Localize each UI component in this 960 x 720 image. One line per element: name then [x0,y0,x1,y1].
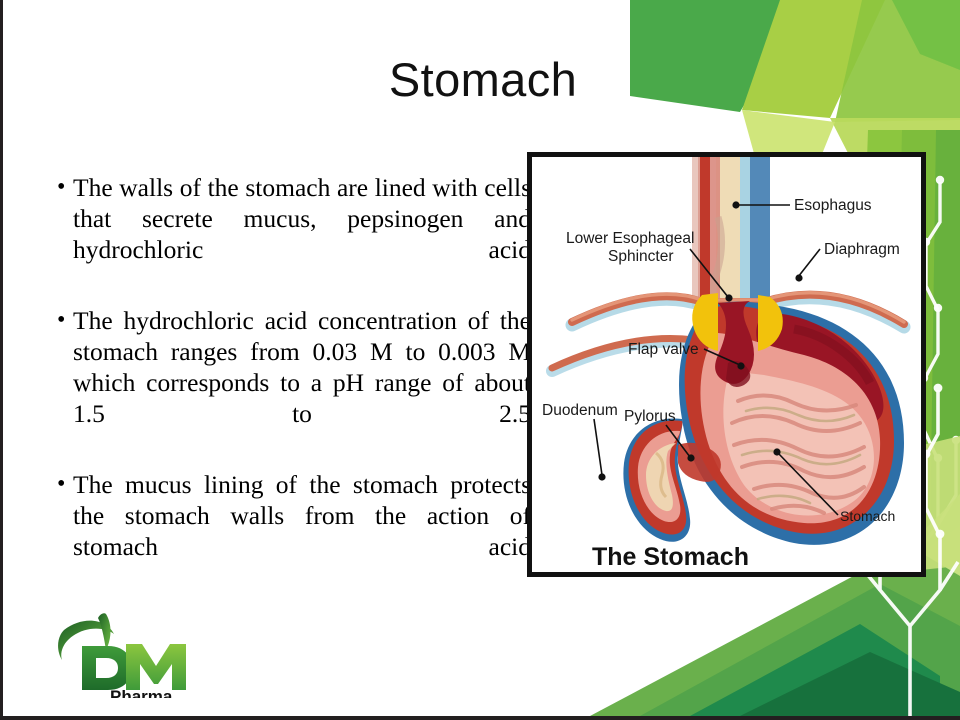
list-item: • The hydrochloric acid concentration of… [47,305,531,460]
bullet-marker: • [47,172,73,202]
label-stomach: Stomach [840,508,895,524]
bullet-list: • The walls of the stomach are lined wit… [47,172,531,602]
logo-dm-pharma: Pharma [48,610,218,698]
bullet-text: The hydrochloric acid concentration of t… [73,305,531,460]
esophagus-shape [692,157,770,307]
stomach-diagram-icon: Esophagus Diaphragm Lower Esophageal Sph… [532,157,921,572]
label-diaphragm: Diaphragm [824,241,900,258]
label-esophagus: Esophagus [794,197,872,214]
logo-letter-d [82,646,132,690]
dm-pharma-logo-icon: Pharma [48,610,218,698]
bullet-marker: • [47,469,73,499]
logo-wordmark: Pharma [110,687,173,698]
label-lower-esophageal-sphincter-line1: Lower Esophageal [566,230,694,247]
slide-canvas: Stomach • The walls of the stomach are l… [0,0,960,720]
stomach-anatomy-figure: Esophagus Diaphragm Lower Esophageal Sph… [527,152,926,577]
list-item: • The mucus lining of the stomach protec… [47,469,531,593]
leaf-blade-icon [98,613,111,650]
page-title: Stomach [3,54,960,106]
logo-letter-m [126,644,186,690]
label-pylorus: Pylorus [624,408,676,425]
label-flap-valve: Flap valve [628,341,699,358]
label-lower-esophageal-sphincter-line2: Sphincter [608,248,673,265]
bullet-text: The mucus lining of the stomach protects… [73,469,531,593]
bullet-marker: • [47,305,73,335]
label-duodenum: Duodenum [542,402,618,419]
bullet-text: The walls of the stomach are lined with … [73,172,531,296]
figure-caption: The Stomach [592,543,749,571]
list-item: • The walls of the stomach are lined wit… [47,172,531,296]
